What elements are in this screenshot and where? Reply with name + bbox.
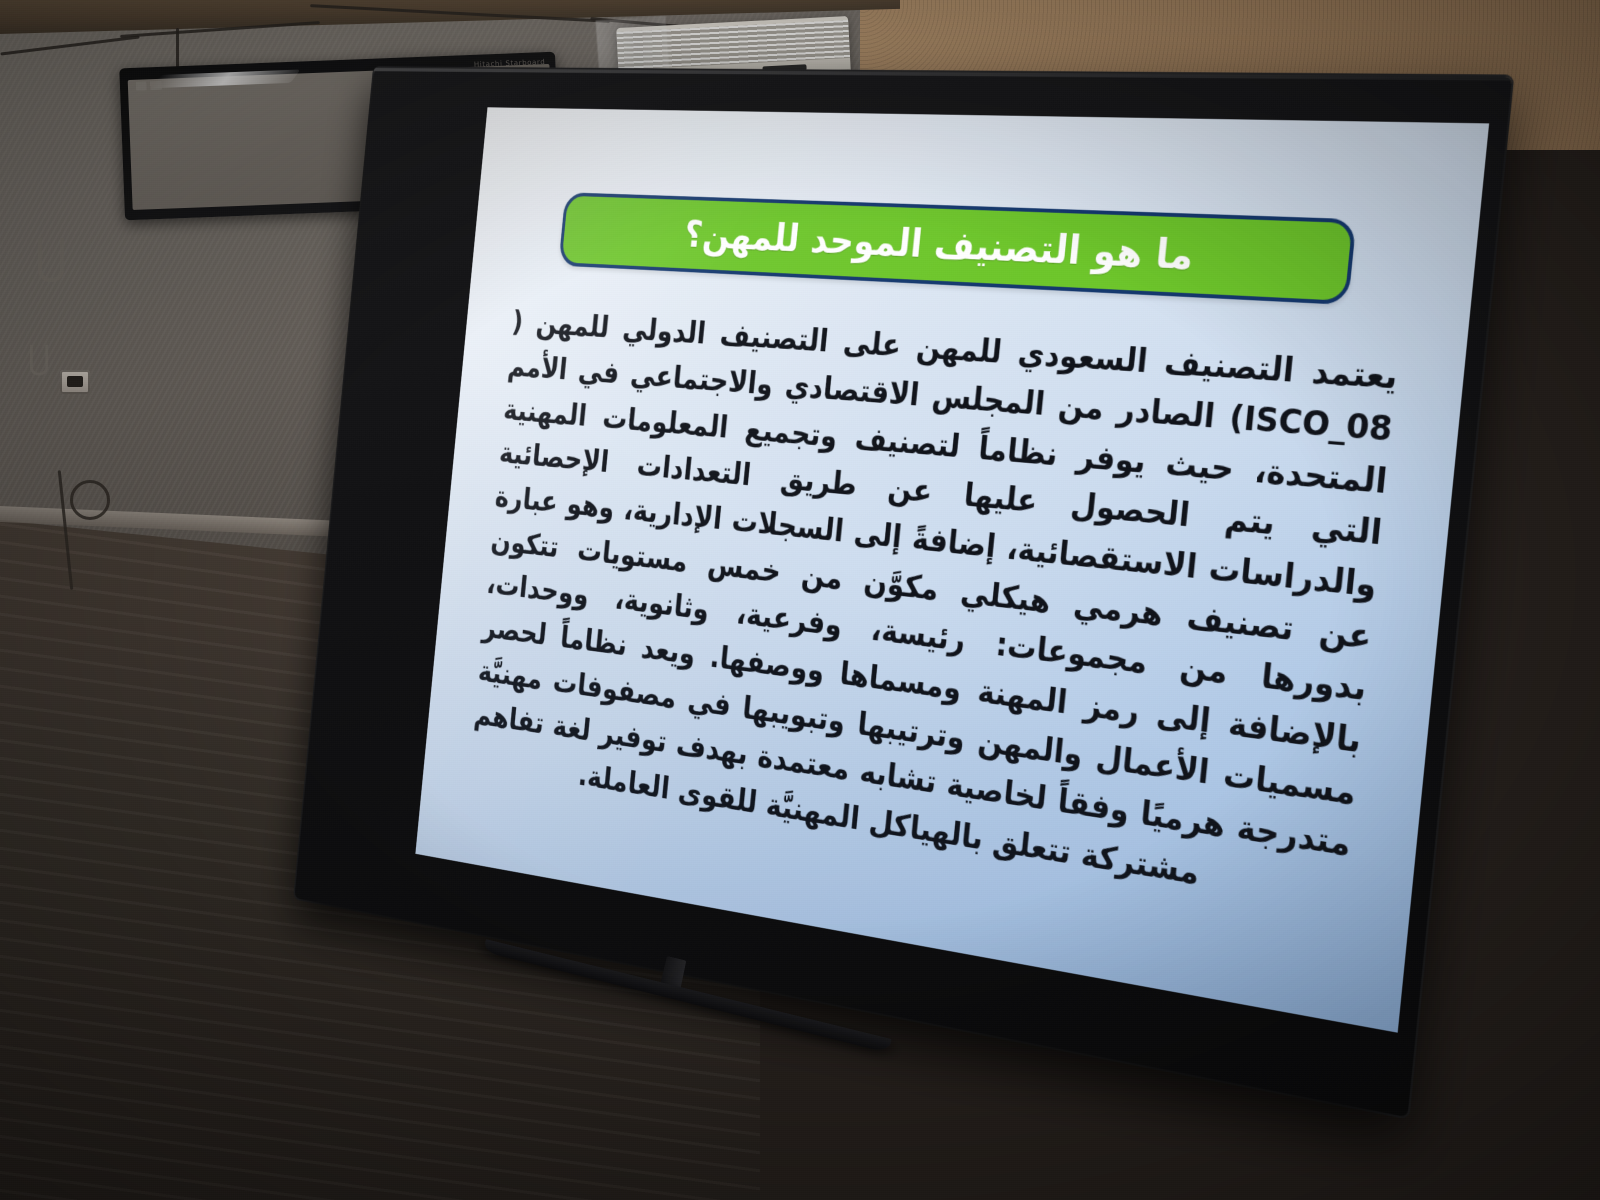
wall-cable-coil: [70, 480, 110, 520]
tv-screen: ما هو التصنيف الموحد للمهن؟ يعتمد التصني…: [415, 107, 1489, 1032]
slide-body-text: يعتمد التصنيف السعودي للمهن على التصنيف …: [468, 301, 1400, 923]
room-scene: Hitachi Starboard جية للجامعة 2030 ما هو…: [0, 0, 1600, 1200]
wall-hook: [30, 345, 48, 376]
whiteboard-logo-icon: [136, 81, 162, 91]
slide-title: ما هو التصنيف الموحد للمهن؟: [578, 210, 1329, 284]
wall-hook: [38, 238, 64, 282]
slide-body-paragraph: يعتمد التصنيف السعودي للمهن على التصنيف …: [473, 305, 1400, 893]
presentation-slide: ما هو التصنيف الموحد للمهن؟ يعتمد التصني…: [415, 107, 1489, 1032]
television: ما هو التصنيف الموحد للمهن؟ يعتمد التصني…: [294, 68, 1512, 1117]
power-socket: [60, 370, 90, 394]
slide-title-banner: ما هو التصنيف الموحد للمهن؟: [558, 192, 1356, 305]
